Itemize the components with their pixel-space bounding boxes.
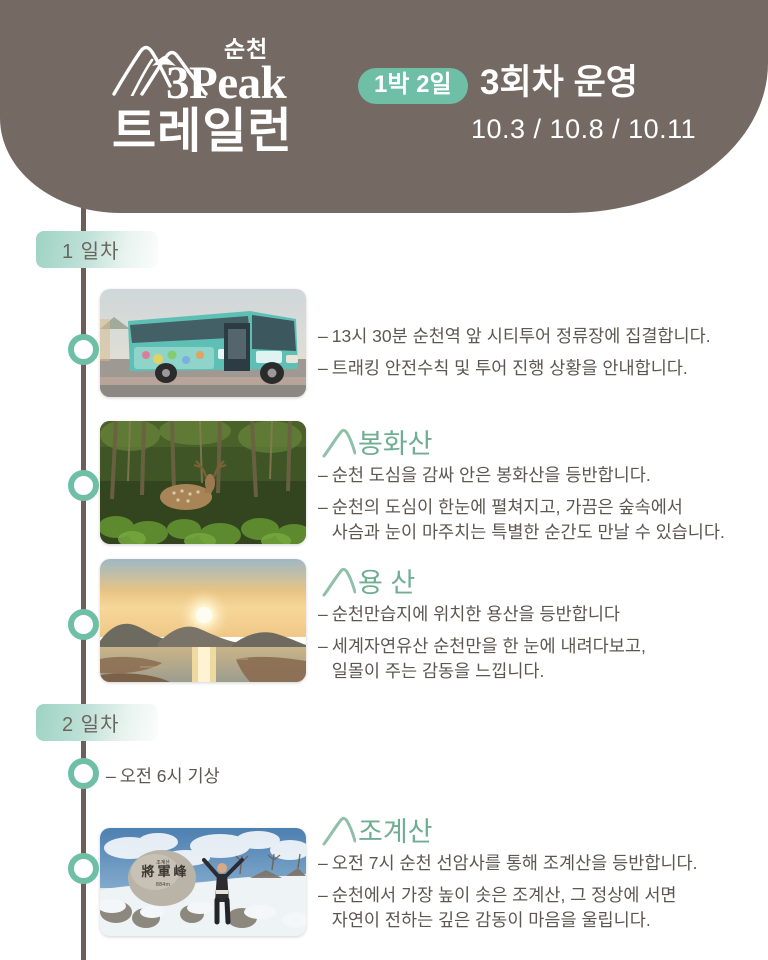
bullet-item: – 순천만습지에 위치한 용산을 등반합니다	[318, 602, 738, 627]
peak-heading-bonghwasan: 봉화산	[322, 420, 433, 458]
bullet-item: – 순천의 도심이 한눈에 펼쳐지고, 가끔은 숲속에서 사슴과 눈이 마주치는…	[318, 495, 738, 545]
peak-name: 용 산	[358, 570, 415, 597]
photo-sunset-bay	[100, 559, 306, 682]
day-badge-1: 1 일차	[36, 231, 158, 268]
session-info: 1박 2일 3회차 운영 10.3 / 10.8 / 10.11	[358, 64, 698, 164]
peak-heading-jogyesan: 조계산	[322, 808, 433, 846]
bullet-item: – 세계자연유산 순천만을 한 눈에 내려다보고, 일몰이 주는 감동을 느낍니…	[318, 634, 738, 684]
timeline-dot-yongsan	[68, 609, 99, 640]
bullet-text: 오전 7시 순천 선암사를 통해 조계산을 등반합니다.	[332, 851, 738, 876]
bullet-dash: –	[318, 324, 328, 349]
svg-text:將: 將	[141, 864, 154, 880]
bullet-text: 13시 30분 순천역 앞 시티투어 정류장에 집결합니다.	[332, 324, 718, 349]
bullet-dash: –	[318, 463, 328, 488]
wakeup-note: – 오전 6시 기상	[106, 764, 220, 789]
bullet-item: – 13시 30분 순천역 앞 시티투어 정류장에 집결합니다.	[318, 324, 718, 349]
timeline-dot-wakeup	[68, 758, 99, 789]
mountain-peak-icon	[322, 816, 356, 846]
svg-text:884m: 884m	[156, 882, 171, 888]
logo-3peak-text: 3Peak	[166, 60, 286, 107]
session-title: 3회차 운영	[480, 64, 638, 103]
svg-text:軍: 軍	[157, 865, 170, 880]
bullet-dash: –	[106, 764, 116, 789]
jogyesan-bullets: – 오전 7시 순천 선암사를 통해 조계산을 등반합니다. – 순천에서 가장…	[318, 851, 738, 940]
bullet-dash: –	[318, 634, 328, 684]
nights-badge: 1박 2일	[358, 68, 468, 104]
day-badge-2-label: 2 일차	[36, 708, 119, 737]
yongsan-bullets: – 순천만습지에 위치한 용산을 등반합니다 – 세계자연유산 순천만을 한 눈…	[318, 602, 738, 691]
bullet-dash: –	[318, 495, 328, 545]
bullet-dash: –	[318, 883, 328, 933]
timeline-line	[81, 150, 86, 960]
bullet-text: 트래킹 안전수칙 및 투어 진행 상황을 안내합니다.	[332, 356, 718, 381]
bullet-text: 순천에서 가장 높이 솟은 조계산, 그 정상에 서면 자연이 전하는 깊은 감…	[332, 883, 738, 933]
photo-snowy-summit: 將 軍 峰 조계산 884m	[100, 828, 306, 936]
poster-header: 순천 3Peak 트레일런 1박 2일 3회차 운영 10.3 / 10.8 /…	[0, 0, 768, 213]
bullet-item: – 오전 7시 순천 선암사를 통해 조계산을 등반합니다.	[318, 851, 738, 876]
timeline-dot-bonghwasan	[68, 470, 99, 501]
bullet-dash: –	[318, 602, 328, 627]
photo-deer-forest	[100, 421, 306, 544]
peak-name: 봉화산	[358, 431, 433, 458]
svg-text:峰: 峰	[173, 864, 187, 880]
poster-page: 순천 3Peak 트레일런 1박 2일 3회차 운영 10.3 / 10.8 /…	[0, 0, 768, 960]
mountain-peak-icon	[322, 567, 356, 597]
timeline-dot-jogyesan	[68, 853, 99, 884]
bullet-dash: –	[318, 851, 328, 876]
bullet-text: 순천 도심을 감싸 안은 봉화산을 등반합니다.	[332, 463, 738, 488]
day-badge-1-label: 1 일차	[36, 235, 119, 264]
svg-text:조계산: 조계산	[156, 859, 170, 866]
bullet-item: – 순천에서 가장 높이 솟은 조계산, 그 정상에 서면 자연이 전하는 깊은…	[318, 883, 738, 933]
mountain-peak-icon	[322, 428, 356, 458]
wakeup-text: 오전 6시 기상	[120, 764, 220, 789]
brand-logo: 순천 3Peak 트레일런	[112, 38, 352, 168]
bullet-item: – 트래킹 안전수칙 및 투어 진행 상황을 안내합니다.	[318, 356, 718, 381]
timeline-dot-arrival	[68, 334, 99, 365]
logo-trailrun-text: 트레일런	[112, 108, 293, 156]
photo-city-tour-bus	[100, 289, 306, 397]
day-badge-2: 2 일차	[36, 704, 158, 741]
bullet-text: 순천만습지에 위치한 용산을 등반합니다	[332, 602, 738, 627]
peak-name: 조계산	[358, 819, 433, 846]
bullet-dash: –	[318, 356, 328, 381]
peak-heading-yongsan: 용 산	[322, 559, 415, 597]
arrival-bullets: – 13시 30분 순천역 앞 시티투어 정류장에 집결합니다. – 트래킹 안…	[318, 324, 718, 388]
bullet-item: – 순천 도심을 감싸 안은 봉화산을 등반합니다.	[318, 463, 738, 488]
session-dates: 10.3 / 10.8 / 10.11	[471, 114, 696, 145]
bullet-text: 순천의 도심이 한눈에 펼쳐지고, 가끔은 숲속에서 사슴과 눈이 마주치는 특…	[332, 495, 738, 545]
bonghwasan-bullets: – 순천 도심을 감싸 안은 봉화산을 등반합니다. – 순천의 도심이 한눈에…	[318, 463, 738, 552]
bullet-text: 세계자연유산 순천만을 한 눈에 내려다보고, 일몰이 주는 감동을 느낍니다.	[332, 634, 738, 684]
